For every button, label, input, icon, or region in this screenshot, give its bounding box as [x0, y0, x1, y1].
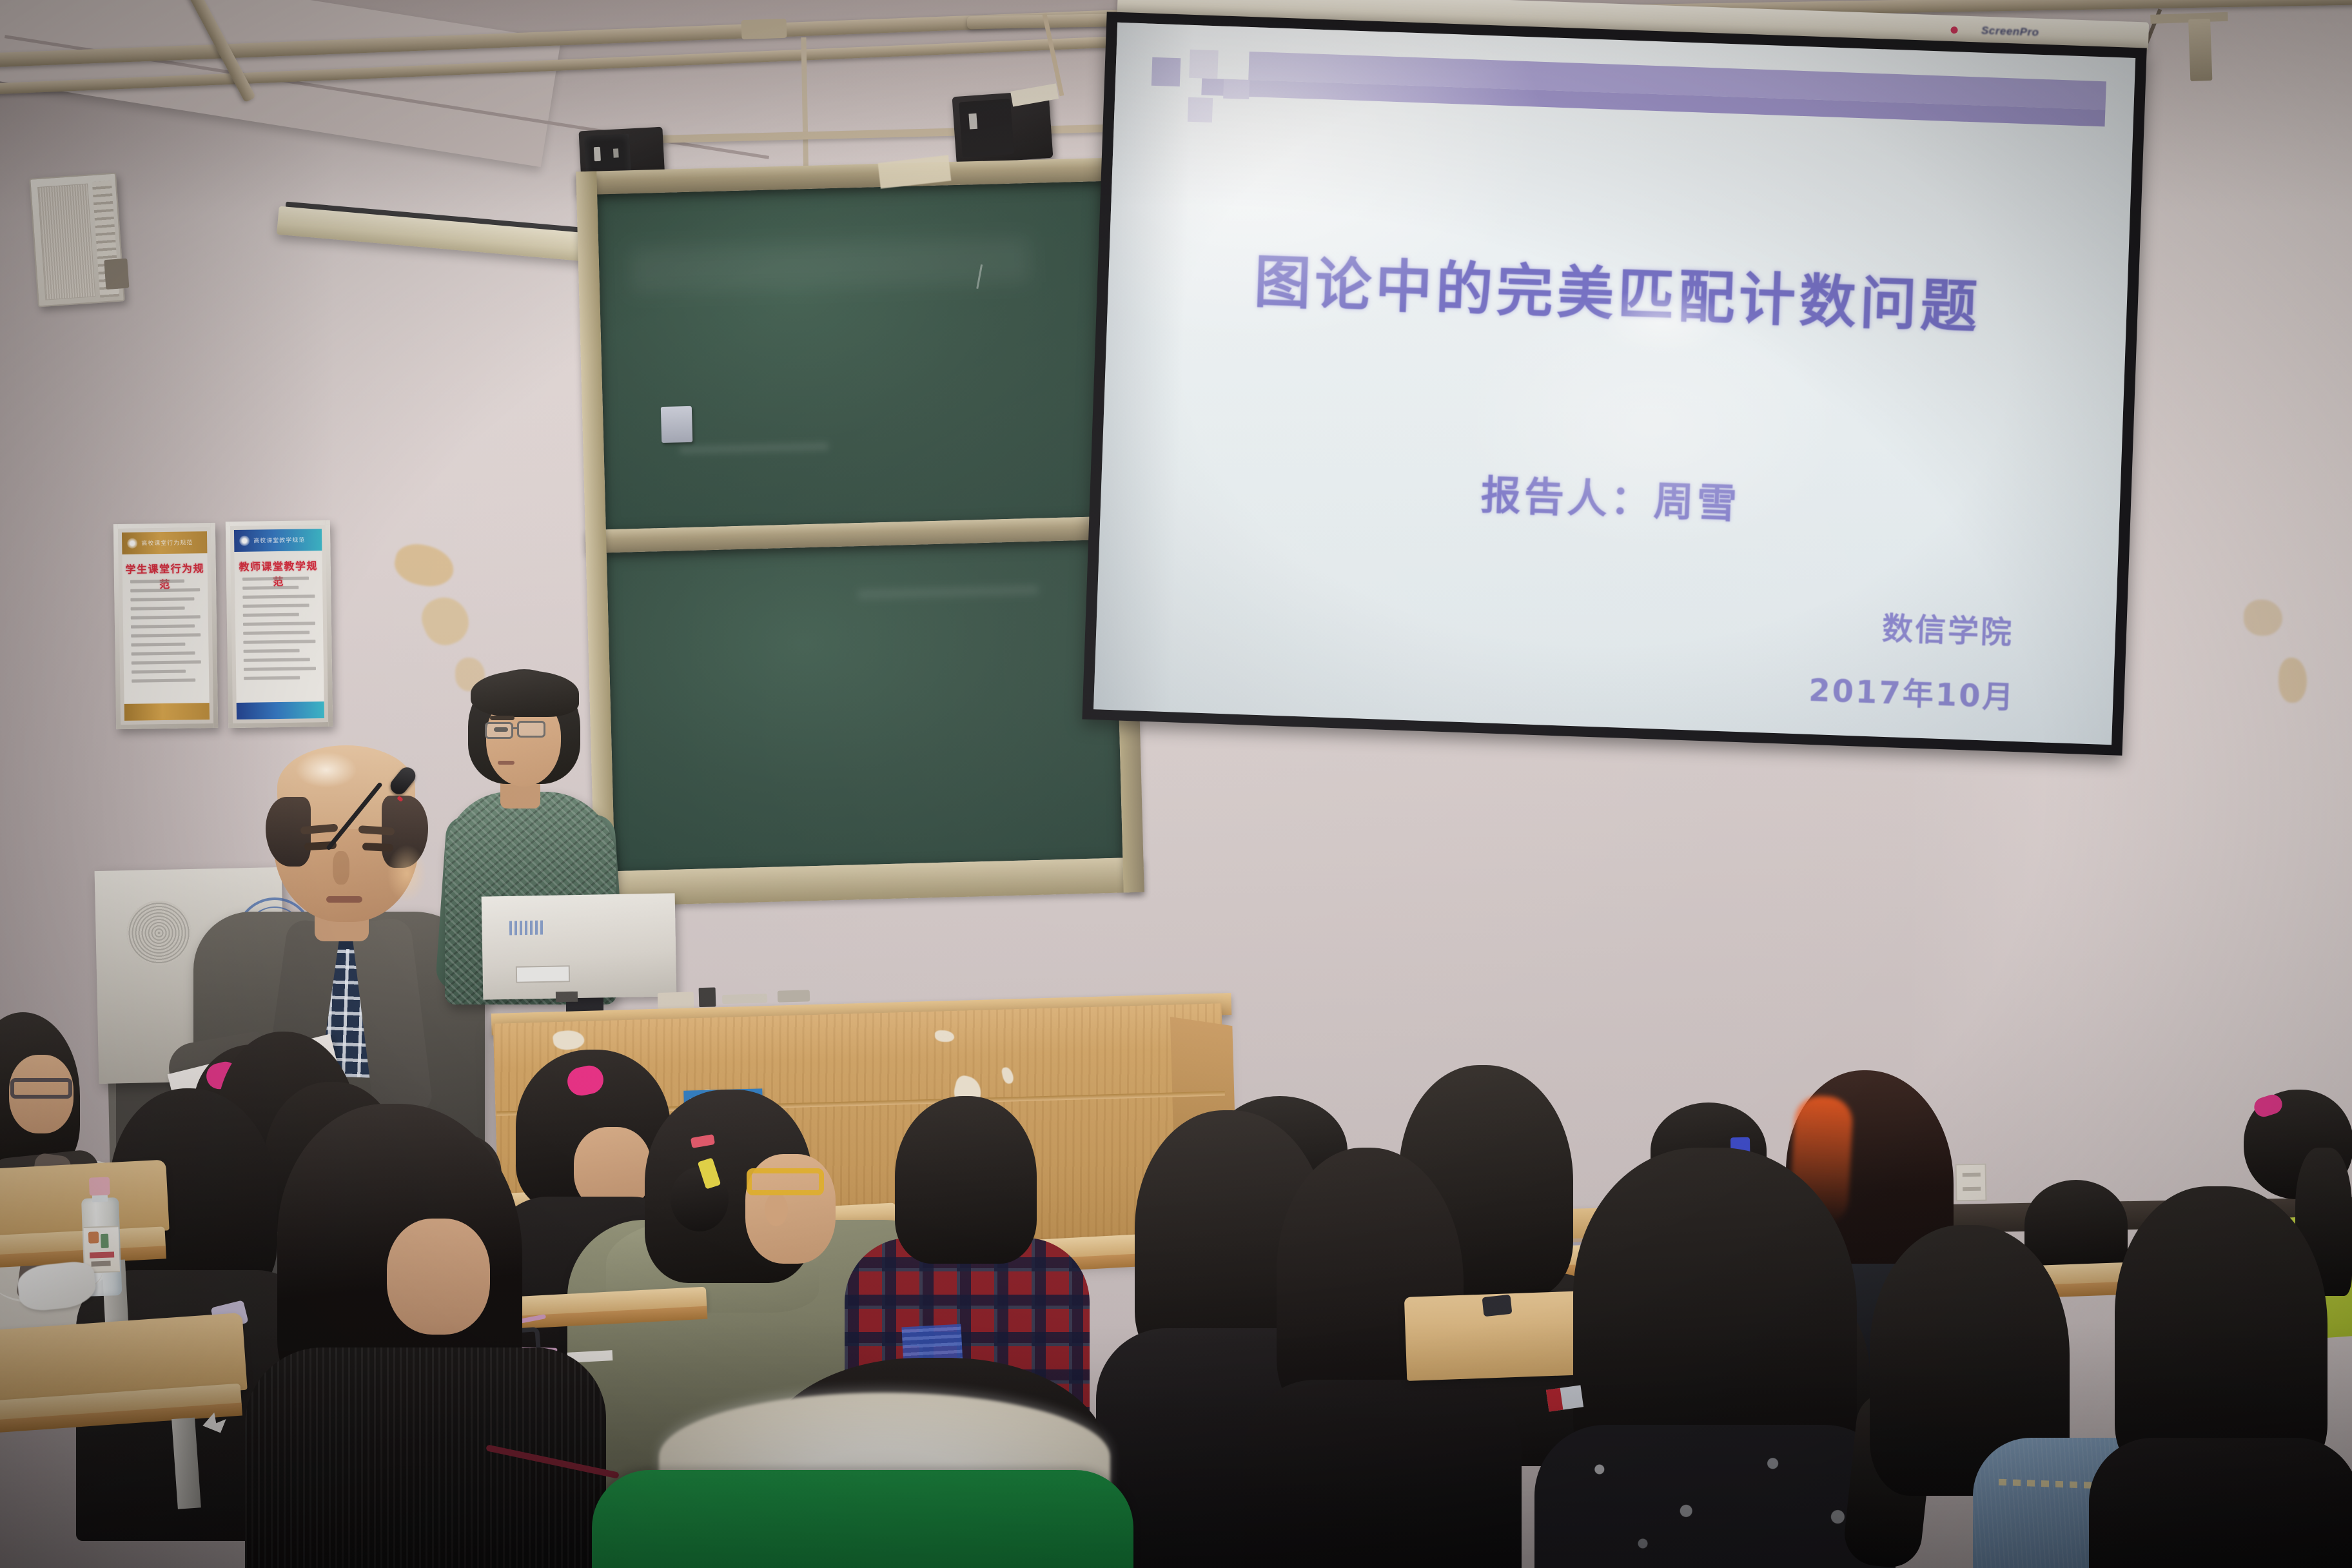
speaker-highlight-2 [613, 148, 619, 157]
console-slot [516, 965, 570, 983]
student-head [895, 1096, 1037, 1264]
speaker-face-highlight [387, 845, 427, 903]
poster-teacher-conduct: 高校课堂教学规范 教师课堂教学规范 [226, 520, 333, 728]
pipe-coupler [741, 19, 787, 39]
chalkboard [576, 157, 1144, 906]
console-label [509, 921, 544, 936]
brand-logo-icon [1950, 26, 1957, 34]
wall-stain [2244, 600, 2282, 636]
instructor-console [482, 893, 677, 999]
poster-header: 高校课堂教学规范 [234, 529, 322, 552]
speaker-grille [37, 184, 95, 300]
student-torso [2089, 1438, 2352, 1568]
lectern-item [778, 990, 810, 1002]
bottle-cap [89, 1177, 110, 1195]
student-patterned-top [1534, 1425, 1896, 1568]
chalkboard-eraser [661, 406, 692, 443]
assistant-eyebrow [490, 716, 514, 720]
student-head [2024, 1180, 2128, 1270]
lectern-item [722, 994, 767, 1004]
screen-mount-post [2188, 19, 2212, 81]
speaker-highlight [968, 113, 977, 130]
chalkboard-panel-upper [597, 181, 1113, 529]
projection-screen: ScreenPro 图论中的完美匹配计数问题 报告人：周雪 数信学院 2017年… [1073, 0, 2150, 970]
poster-logo-icon [127, 538, 137, 549]
outlet-slot [1963, 1187, 1981, 1191]
speaker-eye-right [362, 843, 394, 852]
smartphone [1482, 1295, 1513, 1317]
poster-body [242, 576, 317, 699]
student-hair-bun [671, 1167, 729, 1231]
speaker-nose [333, 851, 349, 885]
poster-footer [124, 703, 210, 721]
speaker-bracket [104, 259, 129, 289]
assistant-fringe [471, 671, 579, 717]
assistant-glasses-bridge [513, 727, 518, 729]
lectern-item [699, 987, 716, 1007]
green-coat [592, 1470, 1133, 1568]
poster-header-text: 高校课堂教学规范 [253, 535, 305, 544]
wall-power-outlet [1955, 1164, 1986, 1202]
wall-speaker-left [29, 173, 125, 308]
poster-sheet: 高校课堂行为规范 学生课堂行为规范 [122, 531, 210, 721]
poster-body [130, 579, 202, 700]
assistant-glasses-left-lens [485, 722, 513, 739]
speaker-head-highlight [295, 752, 357, 788]
poster-student-conduct: 高校课堂行为规范 学生课堂行为规范 [113, 523, 218, 729]
student-ear [765, 1193, 788, 1226]
student-glasses-yellow [747, 1168, 824, 1195]
wall-stain [2278, 658, 2307, 703]
presentation-slide: 图论中的完美匹配计数问题 报告人：周雪 数信学院 2017年10月 [1093, 23, 2135, 745]
console-connector [556, 992, 578, 1003]
student-head [2115, 1186, 2327, 1476]
speaker-highlight [594, 147, 601, 161]
speaker-mouth [326, 896, 362, 903]
assistant-glasses-right-lens [517, 721, 545, 738]
podium-speaker-grille-icon [126, 900, 192, 966]
desk-leg [171, 1418, 201, 1509]
classroom-scene: 高校课堂行为规范 学生课堂行为规范 高校课堂教学规范 教师课堂教学规范 [0, 0, 2352, 1568]
tape-residue [935, 1030, 954, 1042]
student-desk-foreground [0, 1384, 249, 1531]
screen-brand-label: ScreenPro [1981, 24, 2039, 39]
student-face [387, 1219, 490, 1335]
poster-logo-icon [239, 536, 250, 546]
lectern-item [658, 992, 694, 1010]
student-torso [1244, 1380, 1522, 1568]
screen-bezel: 图论中的完美匹配计数问题 报告人：周雪 数信学院 2017年10月 [1082, 12, 2146, 756]
student-glasses [10, 1078, 72, 1099]
outlet-slot [1963, 1173, 1981, 1177]
screen-vignette [1093, 23, 2135, 745]
poster-footer [237, 701, 324, 720]
poster-header: 高校课堂行为规范 [122, 531, 207, 554]
poster-header-text: 高校课堂行为规范 [141, 538, 193, 547]
assistant-mouth [498, 761, 514, 765]
speaker-face [959, 99, 1014, 157]
wall-speaker-right [952, 90, 1053, 164]
poster-sheet: 高校课堂教学规范 教师课堂教学规范 [234, 529, 324, 720]
